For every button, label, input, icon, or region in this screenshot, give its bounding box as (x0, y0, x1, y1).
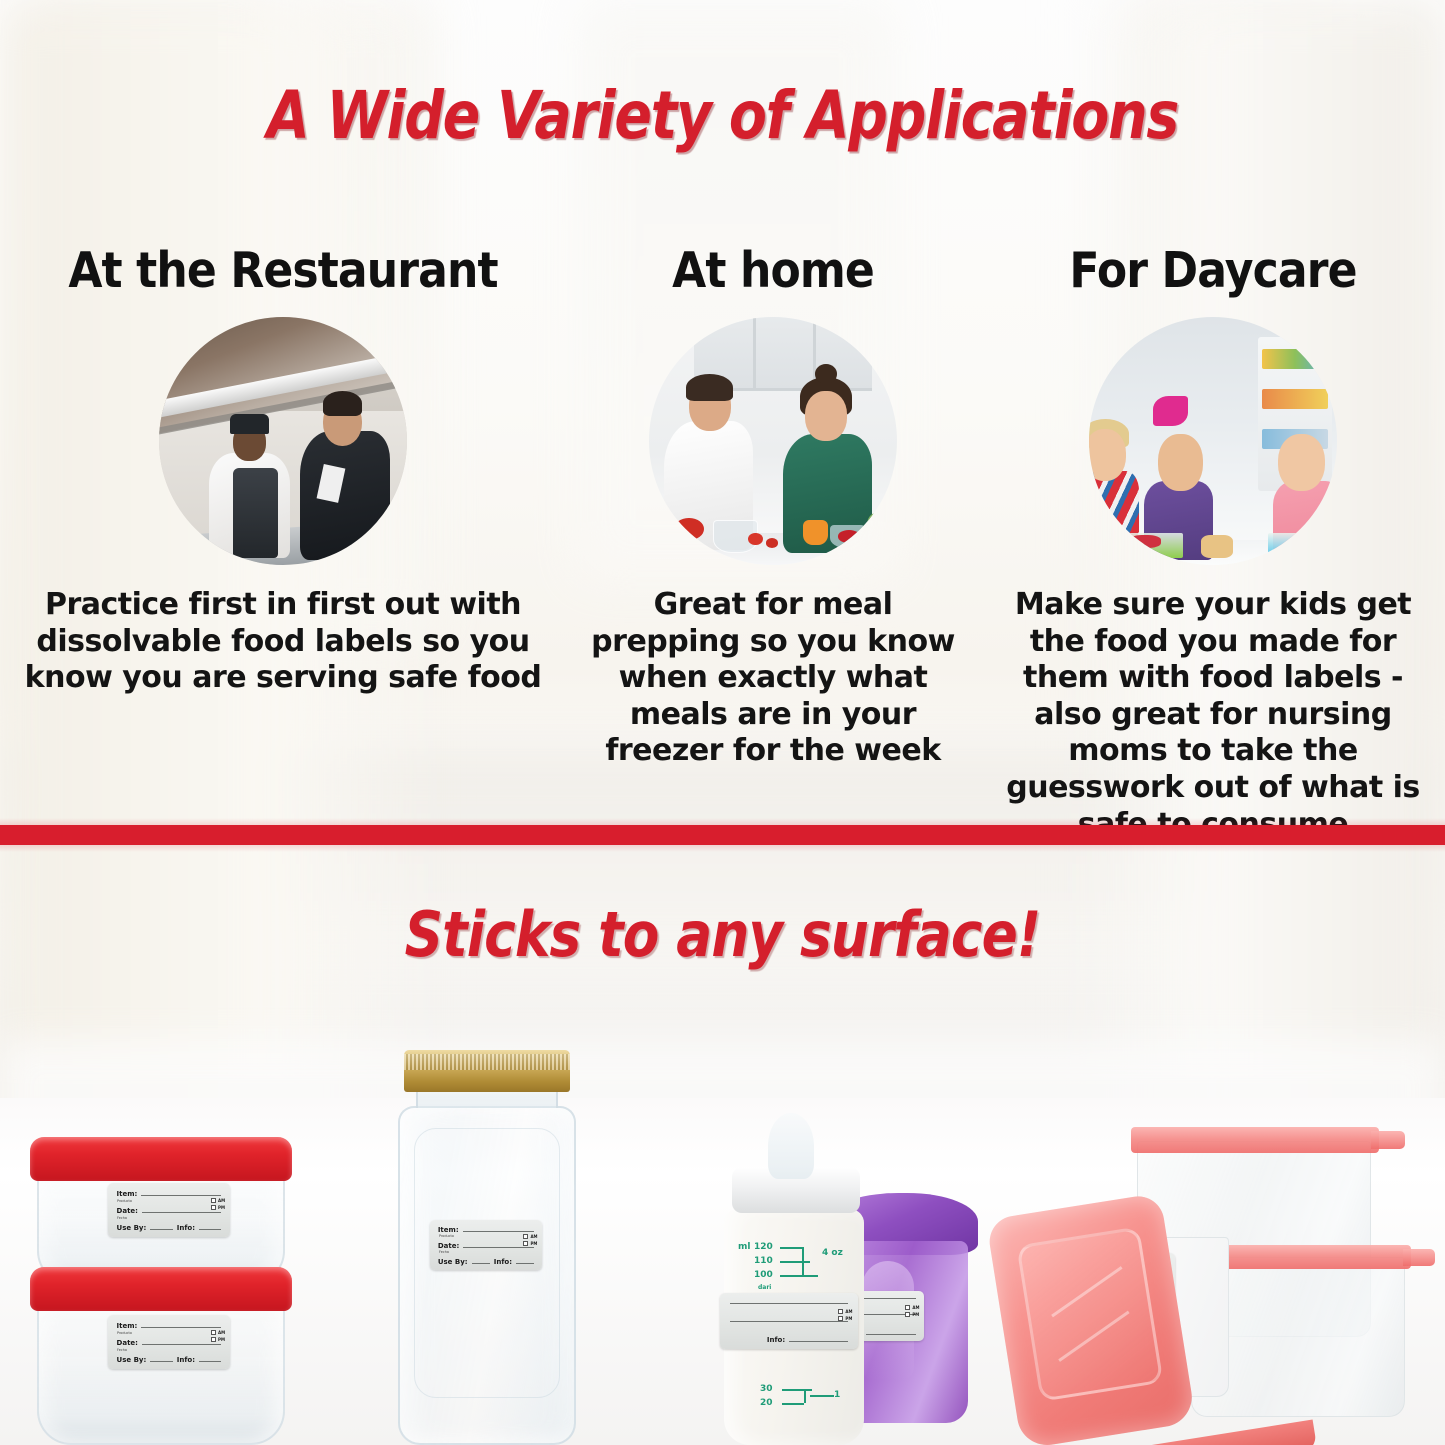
application-card-restaurant: At the Restaurant Practice first in firs… (18, 246, 548, 843)
mason-jar-lid-ridges (404, 1054, 570, 1070)
label-checkbox-pm (905, 1312, 910, 1317)
baby-bottle: ml 120 110 100 dari 4 oz 30 20 1 (712, 1175, 882, 1445)
label-rule-item (141, 1195, 221, 1196)
label-checkbox-am (523, 1234, 528, 1239)
label-sticker-bowl-bottom: Item: Producto Date: Fecha AM PM U (108, 1315, 230, 1369)
label-rule-useby (150, 1361, 172, 1362)
photo1-manager-hair (323, 391, 363, 416)
photo2-orange-juice (803, 520, 828, 545)
bottle-scale-1oz: 1 (834, 1391, 840, 1400)
label-ampm-group: AM PM (905, 1305, 919, 1317)
bottle-tick-20 (782, 1403, 804, 1405)
label-ampm-am: AM (838, 1309, 852, 1314)
photo1-manager-suit (300, 431, 389, 560)
bottle-scale-120: 120 (754, 1243, 773, 1252)
product-showcase: Item: Producto Date: Fecha AM PM U (0, 1025, 1445, 1445)
label-text-pm: PM (218, 1205, 225, 1210)
label-field-item: Item: (117, 1323, 138, 1330)
mason-jar-neck (416, 1090, 558, 1108)
label-text-am: AM (218, 1330, 225, 1335)
application-card-home: At home (578, 246, 968, 843)
photo3-strawberries (1129, 535, 1161, 547)
label-sub-date: Fecha (117, 1217, 127, 1220)
card-photo-wrap-home (578, 317, 968, 565)
label-text-pm: PM (530, 1241, 537, 1246)
label-sticker-mason-jar: Item: Producto Date: Fecha AM PM U (430, 1220, 542, 1270)
bottle-tick-30 (782, 1389, 812, 1391)
glass-bowl-top-lid (30, 1137, 292, 1181)
lid-inner-panel (1016, 1226, 1163, 1401)
photo2-lettuce (867, 513, 889, 543)
card-body-home: Great for meal prepping so you know when… (578, 587, 968, 770)
photo1-chef-cap (230, 414, 270, 434)
bottle-tick-110 (780, 1261, 810, 1263)
label-rule-item (730, 1303, 849, 1304)
label-rule-info (199, 1361, 221, 1362)
bottle-scale-30: 30 (760, 1385, 773, 1394)
bottle-scale-ml-unit: ml (738, 1243, 750, 1252)
card-body-daycare: Make sure your kids get the food you mad… (993, 587, 1433, 843)
label-rule-date (730, 1321, 849, 1322)
label-rule-info (789, 1341, 848, 1342)
label-ampm-am: AM (523, 1234, 537, 1239)
photo1-sauce-pan (174, 540, 206, 562)
bottle-scale-unit-sub: dari (758, 1285, 771, 1291)
label-ampm-am: AM (211, 1198, 225, 1203)
label-ampm-pm: PM (211, 1205, 225, 1210)
label-field-info: Info: (767, 1337, 785, 1344)
label-field-item: Item: (117, 1191, 138, 1198)
label-rule-useby (150, 1229, 172, 1230)
plastic-container-small-tab (1403, 1249, 1435, 1266)
label-rule-date (142, 1344, 222, 1345)
label-ampm-pm: PM (523, 1241, 537, 1246)
photo3-girl1-head (1158, 434, 1203, 491)
label-ampm-am: AM (905, 1305, 919, 1310)
label-field-info: Info: (177, 1225, 195, 1232)
label-ampm-pm: PM (905, 1312, 919, 1317)
label-checkbox-am (211, 1198, 216, 1203)
label-rule-useby (472, 1263, 490, 1264)
label-checkbox-pm (523, 1241, 528, 1246)
photo3-shelf-row-1 (1262, 349, 1327, 369)
label-text-pm: PM (218, 1337, 225, 1342)
bottle-tick-1oz-lead (810, 1395, 834, 1397)
card-title-restaurant: At the Restaurant (45, 246, 522, 295)
bottle-scale-100: 100 (754, 1271, 773, 1280)
photo2-man-hair (686, 374, 733, 401)
label-field-useby: Use By: (117, 1225, 147, 1232)
photo2-bell-pepper (674, 518, 704, 540)
baby-bottle-nipple (768, 1113, 814, 1179)
bottle-tick-120 (780, 1247, 802, 1249)
label-field-useby: Use By: (117, 1357, 147, 1364)
bottle-tick-vert-lower (804, 1389, 806, 1403)
photo-daycare-children (1089, 317, 1337, 565)
label-checkbox-am (838, 1309, 843, 1314)
label-sub-item: Producto (117, 1332, 132, 1335)
label-field-date: Date: (117, 1208, 138, 1215)
photo1-chef-apron (233, 468, 278, 557)
label-field-useby: Use By: (438, 1259, 468, 1266)
label-checkbox-am (905, 1305, 910, 1310)
label-sub-item: Producto (117, 1200, 132, 1203)
label-field-date: Date: (117, 1340, 138, 1347)
label-text-pm: PM (845, 1316, 852, 1321)
label-checkbox-pm (211, 1205, 216, 1210)
photo2-woman-head (805, 391, 847, 441)
label-text-am: AM (218, 1198, 225, 1203)
label-checkbox-pm (838, 1316, 843, 1321)
glass-bowl-bottom-lid (30, 1267, 292, 1311)
bottle-scale-4oz: 4 oz (822, 1249, 843, 1258)
label-ampm-pm: PM (838, 1316, 852, 1321)
plastic-container-large-tab (1371, 1131, 1405, 1149)
label-ampm-group: AM PM (523, 1234, 537, 1246)
lid-slash-2 (1058, 1311, 1129, 1362)
label-ampm-group: AM PM (211, 1330, 225, 1342)
label-checkbox-pm (211, 1337, 216, 1342)
label-rule-date (463, 1247, 534, 1248)
applications-card-row: At the Restaurant Practice first in firs… (0, 246, 1445, 843)
label-text-am: AM (530, 1234, 537, 1239)
bottle-tick-vert-upper (802, 1247, 804, 1275)
photo2-berries (838, 530, 860, 542)
square-mason-jar: Item: Producto Date: Fecha AM PM U (392, 1050, 582, 1445)
card-photo-wrap-restaurant (18, 317, 548, 565)
photo-restaurant-kitchen (159, 317, 407, 565)
label-sub-item: Producto (439, 1235, 454, 1238)
label-checkbox-am (211, 1330, 216, 1335)
card-photo-wrap-daycare (993, 317, 1433, 565)
photo2-tomato-2 (766, 538, 778, 548)
label-sub-date: Fecha (439, 1251, 449, 1254)
photo3-girl1-pink-bow (1153, 396, 1188, 426)
label-rule-item (141, 1327, 221, 1328)
label-text-am: AM (912, 1305, 919, 1310)
card-title-home: At home (598, 246, 949, 295)
plastic-container-group: Item: Date: AM PM (985, 1105, 1445, 1445)
label-field-info: Info: (494, 1259, 512, 1266)
photo3-shelf-row-2 (1262, 389, 1327, 409)
plastic-container-large-lid (1131, 1127, 1379, 1153)
divider-bar (0, 825, 1445, 845)
bottle-tick-100 (780, 1275, 818, 1277)
label-rule-date (142, 1212, 222, 1213)
page-title: A Wide Variety of Applications (116, 82, 1330, 151)
photo3-fruit (1290, 535, 1320, 547)
photo-home-kitchen (649, 317, 897, 565)
card-title-daycare: For Daycare (1015, 246, 1411, 295)
label-rule-item (463, 1231, 535, 1232)
sticks-to-any-surface-title: Sticks to any surface! (101, 898, 1344, 971)
glass-bowl-stack: Item: Producto Date: Fecha AM PM U (10, 1115, 310, 1445)
bottle-scale-20: 20 (760, 1399, 773, 1408)
plastic-container-lid-leaning (986, 1193, 1196, 1445)
label-rule-info (516, 1263, 534, 1264)
label-ampm-pm: PM (211, 1337, 225, 1342)
label-field-item: Item: (438, 1227, 459, 1234)
bottle-scale-110: 110 (754, 1257, 773, 1266)
label-text-am: AM (845, 1309, 852, 1314)
application-card-daycare: For Daycare (993, 246, 1433, 843)
label-sticker-bowl-top: Item: Producto Date: Fecha AM PM U (108, 1183, 230, 1237)
photo2-cabinet-seam-1 (753, 317, 756, 391)
card-body-restaurant: Practice first in first out with dissolv… (18, 587, 548, 697)
lid-slash-1 (1051, 1266, 1122, 1317)
label-ampm-group: AM PM (838, 1309, 852, 1321)
photo3-boy-head (1089, 429, 1126, 481)
label-text-pm: PM (912, 1312, 919, 1317)
label-sticker-baby-bottle: AM PM Info: (720, 1293, 858, 1349)
label-rule-info (199, 1229, 221, 1230)
label-field-date: Date: (438, 1243, 459, 1250)
label-field-info: Info: (177, 1357, 195, 1364)
section-divider (0, 818, 1445, 852)
photo3-sandwich (1201, 535, 1233, 557)
label-sub-date: Fecha (117, 1349, 127, 1352)
label-ampm-am: AM (211, 1330, 225, 1335)
photo3-girl2-head (1278, 434, 1325, 491)
label-ampm-group: AM PM (211, 1198, 225, 1210)
